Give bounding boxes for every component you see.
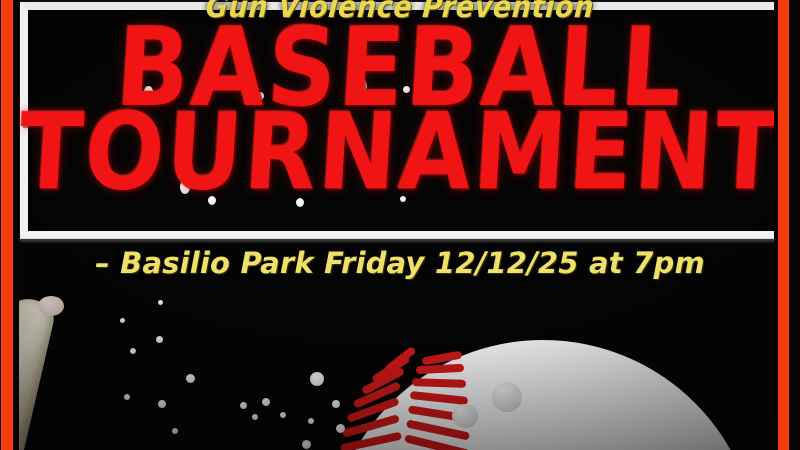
dirt-clod-large: [492, 382, 522, 412]
left-edge-stripe: [1, 0, 13, 450]
dust-particle: [308, 418, 314, 424]
dust-particle: [172, 428, 178, 434]
dust-particle: [310, 372, 324, 386]
dust-particle: [240, 402, 247, 409]
left-edge-shadow: [0, 0, 1, 450]
dust-particle: [130, 348, 136, 354]
right-edge-gap: [774, 0, 778, 450]
dirt-clod-small: [452, 404, 478, 428]
dust-particle: [336, 424, 345, 433]
right-edge-stripe: [778, 0, 789, 450]
dust-particle: [156, 336, 163, 343]
dust-particle: [252, 414, 258, 420]
dust-particle: [124, 394, 130, 400]
dust-particle: [262, 398, 270, 406]
poster-subtitle: – Basilio Park Friday 12/12/25 at 7pm: [0, 246, 800, 280]
dust-particle: [186, 374, 195, 383]
dust-particle: [332, 400, 340, 408]
right-edge-shadow: [789, 0, 800, 450]
left-edge-gap: [13, 0, 19, 450]
dust-particle: [120, 318, 125, 323]
dust-particle: [302, 440, 311, 449]
poster-canvas: Gun Violence Prevention BASEBALL TOURNAM…: [0, 0, 800, 450]
dust-particle: [158, 400, 166, 408]
dust-particle: [158, 300, 163, 305]
dust-particle: [280, 412, 286, 418]
poster-headline-line-2: TOURNAMENT: [0, 105, 800, 203]
baseball-bat-knob: [38, 296, 64, 316]
